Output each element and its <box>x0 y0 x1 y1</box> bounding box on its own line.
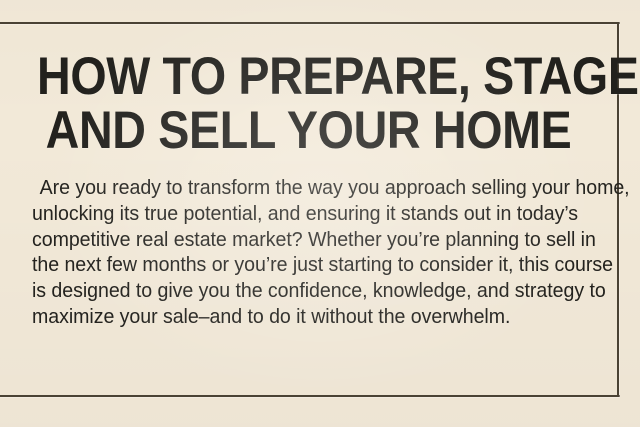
body-line-5: is designed to give you the confidence, … <box>32 278 569 304</box>
body-line-3: competitive real estate market? Whether … <box>32 227 569 253</box>
body-line-2: unlocking its true potential, and ensuri… <box>32 201 569 227</box>
body-line-4: the next few months or you’re just start… <box>32 252 569 278</box>
title-line-2: AND SELL YOUR HOME <box>37 104 580 158</box>
body-line-1: Are you ready to transform the way you a… <box>32 175 569 201</box>
slide-canvas: HOW TO PREPARE, STAGE AND SELL YOUR HOME… <box>0 0 640 427</box>
frame-bottom-rule <box>0 395 620 397</box>
slide-body-paragraph: Are you ready to transform the way you a… <box>32 175 594 330</box>
frame-top-rule <box>0 22 620 24</box>
body-line-6: maximize your sale–and to do it without … <box>32 304 569 330</box>
slide-title: HOW TO PREPARE, STAGE AND SELL YOUR HOME <box>0 50 617 158</box>
title-line-1: HOW TO PREPARE, STAGE <box>37 50 580 104</box>
